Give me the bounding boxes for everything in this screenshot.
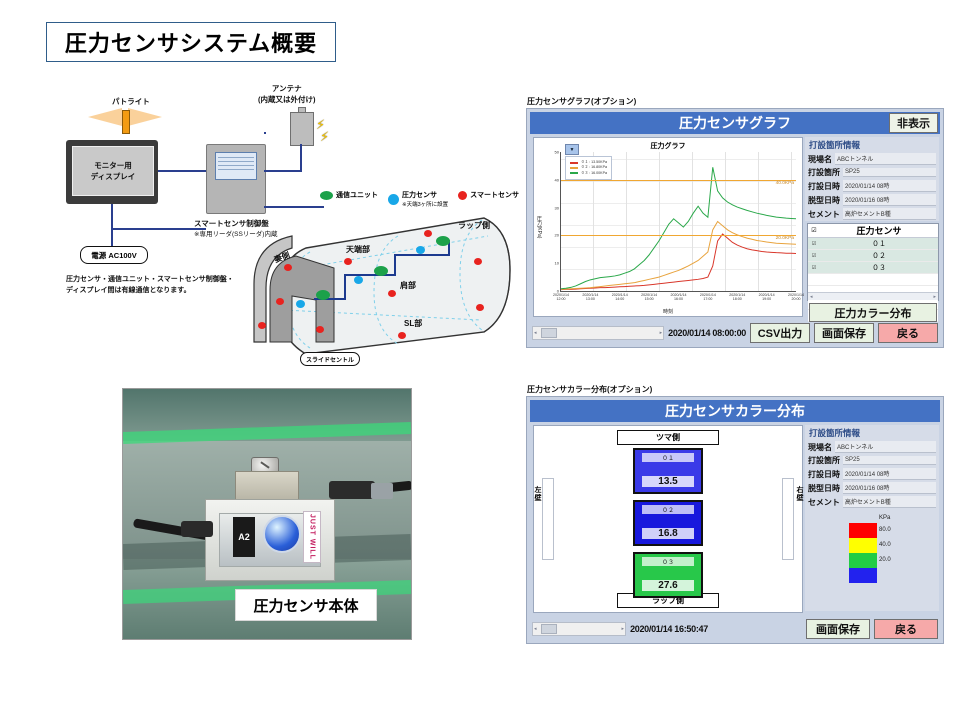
x-axis-tick-line: 13:00 bbox=[582, 297, 598, 301]
info-row: 脱型日時2020/01/16 08時 bbox=[808, 482, 936, 494]
red-dot-icon bbox=[458, 191, 467, 200]
right-wall-rail bbox=[782, 478, 794, 560]
sensor-box-id: ０２ bbox=[642, 505, 694, 514]
info-row: 脱型日時2020/01/16 08時 bbox=[808, 194, 936, 206]
info-key: 打設箇所 bbox=[808, 455, 840, 466]
graph-statusbar: ◂▸ 2020/01/14 08:00:00 CSV出力 画面保存 戻る bbox=[530, 322, 940, 344]
graph-timestamp: 2020/01/14 08:00:00 bbox=[668, 328, 746, 338]
color-scale-swatch bbox=[849, 568, 877, 583]
legend-series-label: ０３ : 16.00KPa bbox=[581, 171, 607, 176]
info-key: 打設日時 bbox=[808, 181, 840, 192]
smart-sensor-7 bbox=[474, 258, 482, 265]
sensor-list-header-checkbox[interactable]: ☑ bbox=[808, 227, 820, 234]
label-shoulder: 肩部 bbox=[400, 280, 416, 291]
sensor-legend: 通信ユニット 圧力センサ ※天端3ヶ所に設置 スマートセンサ bbox=[320, 190, 519, 208]
color-scale-label: 40.0 bbox=[879, 538, 891, 553]
graph-window-title: 圧力センサグラフ bbox=[679, 113, 791, 133]
cable-seg-2 bbox=[344, 274, 346, 300]
y-axis-tick: 50 bbox=[555, 150, 559, 155]
chart-series-line bbox=[561, 234, 796, 290]
smart-sensor-5 bbox=[388, 290, 396, 297]
csv-export-button[interactable]: CSV出力 bbox=[750, 323, 810, 343]
color-save-button[interactable]: 画面保存 bbox=[806, 619, 870, 639]
smart-sensor-8 bbox=[476, 304, 484, 311]
legend-item-smart-sensor: スマートセンサ bbox=[458, 190, 519, 200]
color-time-scrollbar[interactable]: ◂▸ bbox=[532, 622, 626, 636]
reference-line-label: 20.0KPa bbox=[776, 236, 794, 241]
wire-node bbox=[264, 132, 266, 134]
color-distribution-button[interactable]: 圧力カラー分布 bbox=[809, 303, 937, 322]
x-axis-tick: 2020/1/1414:00 bbox=[612, 293, 628, 302]
color-window-caption: 圧力センサカラー分布(オプション) bbox=[527, 384, 652, 395]
legend-color-swatch bbox=[570, 162, 578, 164]
x-axis-tick-line: 20:00 bbox=[788, 297, 804, 301]
color-window-titlebar: 圧力センサカラー分布 bbox=[530, 400, 940, 422]
graph-info-rows: 現場名ABCトンネル打設箇所SP25打設日時2020/01/14 08時脱型日時… bbox=[805, 153, 939, 220]
photo-caption: 圧力センサ本体 bbox=[235, 589, 377, 621]
chart-xlabel: 時刻 bbox=[534, 308, 802, 315]
y-axis-tick: 40 bbox=[555, 177, 559, 182]
info-row: 現場名ABCトンネル bbox=[808, 153, 936, 165]
x-axis-tick-line: 14:00 bbox=[612, 297, 628, 301]
legend-color-swatch bbox=[570, 172, 578, 174]
pressure-sensor-1 bbox=[296, 300, 305, 308]
info-row: セメント高炉セメントB種 bbox=[808, 496, 936, 508]
pressure-color-distribution-window: 圧力センサカラー分布 ツマ側 ラップ側 左壁 右壁 ０１13.5０２16.8０３… bbox=[526, 396, 944, 644]
info-value: ABCトンネル bbox=[835, 153, 936, 165]
sensor-list-item[interactable]: ☑０１ bbox=[808, 238, 938, 250]
right-wall-label: 右壁 bbox=[794, 486, 804, 502]
info-value: 高炉セメントB種 bbox=[843, 208, 936, 220]
color-scale-label: 80.0 bbox=[879, 523, 891, 538]
wire-antenna-to-control bbox=[264, 170, 302, 172]
label-sl: SL部 bbox=[404, 318, 422, 329]
sensor-list[interactable]: ☑ 圧力センサ ☑０１☑０２☑０３ ◂▸ bbox=[807, 223, 939, 301]
cable-seg-5 bbox=[394, 254, 448, 256]
smart-sensor-2 bbox=[344, 258, 352, 265]
legend-item-pressure-sensor: 圧力センサ ※天端3ヶ所に設置 bbox=[388, 190, 448, 208]
color-scale-label: 20.0 bbox=[879, 553, 891, 568]
color-scale-legend: 80.040.020.0 bbox=[849, 523, 891, 583]
sensor-color-box[interactable]: ０２16.8 bbox=[633, 500, 703, 546]
graph-time-scrollbar[interactable]: ◂▸ bbox=[532, 326, 664, 340]
sensor-box-value: 13.5 bbox=[642, 476, 694, 487]
color-distribution-canvas: ツマ側 ラップ側 左壁 右壁 ０１13.5０２16.8０３27.6 bbox=[533, 425, 803, 613]
x-axis-tick: 2020/1/1418:00 bbox=[729, 293, 745, 302]
smart-sensor-10 bbox=[258, 322, 266, 329]
page-title: 圧力センサシステム概要 bbox=[46, 22, 336, 62]
system-diagram: パトライト モニター用 ディスプレイ スマートセンサ制御盤 ※専用リーダ(SSリ… bbox=[58, 82, 518, 372]
sensor-label: ０１ bbox=[820, 239, 938, 249]
antenna-label-line1: アンテナ bbox=[258, 84, 316, 95]
info-row: 打設箇所SP25 bbox=[808, 455, 936, 466]
chart-panel: 圧力グラフ 圧力(KPa) 時刻 ▼ ０１ : 13.50KPa０２ : 16.… bbox=[533, 137, 803, 317]
x-axis-tick: 2020/1/1417:00 bbox=[700, 293, 716, 302]
graph-back-button[interactable]: 戻る bbox=[878, 323, 938, 343]
label-lap-side: ラップ側 bbox=[458, 220, 490, 231]
wire-monitor-to-power bbox=[111, 204, 113, 246]
pressure-graph-window: 圧力センサグラフ 非表示 圧力グラフ 圧力(KPa) 時刻 ▼ ０１ : 13.… bbox=[526, 108, 944, 348]
monitor-label-line2: ディスプレイ bbox=[91, 171, 135, 182]
wire-monitor-to-control bbox=[158, 170, 206, 172]
sensor-box-value: 27.6 bbox=[642, 580, 694, 591]
green-dot-icon bbox=[320, 191, 333, 200]
info-key: 現場名 bbox=[808, 442, 832, 453]
graph-window-caption: 圧力センサグラフ(オプション) bbox=[527, 96, 636, 107]
info-value: 2020/01/14 08時 bbox=[843, 180, 936, 192]
diagram-note-line2: ディスプレイ間は有線通信となります。 bbox=[66, 285, 234, 296]
info-row: 打設箇所SP25 bbox=[808, 167, 936, 178]
photo-connector-left bbox=[181, 521, 213, 537]
color-back-button[interactable]: 戻る bbox=[874, 619, 938, 639]
diagram-note-line1: 圧力センサ・通信ユニット・スマートセンサ制御盤・ bbox=[66, 274, 234, 285]
sensor-list-scrollbar[interactable]: ◂▸ bbox=[808, 292, 938, 300]
chart-ylabel: 圧力(KPa) bbox=[536, 216, 543, 239]
sensor-box-value: 16.8 bbox=[642, 528, 694, 539]
smart-sensor-1 bbox=[276, 298, 284, 305]
sensor-list-item[interactable]: ☑０３ bbox=[808, 262, 938, 274]
info-row: 現場名ABCトンネル bbox=[808, 441, 936, 453]
info-key: 脱型日時 bbox=[808, 195, 840, 206]
patlite-label: パトライト bbox=[112, 96, 150, 107]
antenna-label: アンテナ (内蔵又は外付け) bbox=[258, 84, 316, 105]
radio-wave-icon-2: ⚡ bbox=[320, 130, 329, 143]
color-info-panel: 打設箇所情報 現場名ABCトンネル打設箇所SP25打設日時2020/01/14 … bbox=[805, 425, 939, 611]
info-row: 打設日時2020/01/14 08時 bbox=[808, 180, 936, 192]
color-timestamp: 2020/01/14 16:50:47 bbox=[630, 624, 708, 634]
x-axis-tick: 2020/1/1415:00 bbox=[641, 293, 657, 302]
left-wall-rail bbox=[542, 478, 554, 560]
diagram-note: 圧力センサ・通信ユニット・スマートセンサ制御盤・ ディスプレイ間は有線通信となり… bbox=[66, 274, 234, 296]
x-axis-tick: 2020/1/1413:00 bbox=[582, 293, 598, 302]
color-scrollbar-thumb[interactable] bbox=[541, 624, 557, 634]
sensor-checkbox[interactable]: ☑ bbox=[808, 253, 820, 259]
color-scale-swatch bbox=[849, 538, 877, 553]
color-scale-labels: 80.040.020.0 bbox=[879, 523, 891, 583]
x-axis-tick: 2020/1/1416:00 bbox=[671, 293, 687, 302]
chart-legend-item: ０３ : 16.00KPa bbox=[570, 171, 607, 176]
label-crown: 天端部 bbox=[346, 244, 370, 255]
info-value: 2020/01/16 08時 bbox=[843, 194, 936, 206]
blue-dot-icon bbox=[388, 194, 399, 205]
reference-line bbox=[561, 235, 796, 236]
y-axis-tick: 20 bbox=[555, 233, 559, 238]
hide-button[interactable]: 非表示 bbox=[889, 113, 938, 133]
smart-sensor-9 bbox=[284, 264, 292, 271]
tunnel-illustration: 通信ユニット 圧力センサ ※天端3ヶ所に設置 スマートセンサ bbox=[248, 192, 516, 367]
info-key: 打設日時 bbox=[808, 469, 840, 480]
color-info-rows: 現場名ABCトンネル打設箇所SP25打設日時2020/01/14 08時脱型日時… bbox=[805, 441, 939, 508]
sensor-checkbox[interactable]: ☑ bbox=[808, 265, 820, 271]
y-axis-tick: 10 bbox=[555, 261, 559, 266]
wire-power-bus bbox=[111, 228, 206, 230]
chart-series-line bbox=[561, 222, 796, 290]
color-window-title: 圧力センサカラー分布 bbox=[665, 401, 805, 421]
smart-sensor-6 bbox=[398, 332, 406, 339]
info-key: セメント bbox=[808, 209, 840, 220]
sensor-list-header-label: 圧力センサ bbox=[820, 224, 938, 237]
y-axis-tick: 30 bbox=[555, 205, 559, 210]
info-row: 打設日時2020/01/14 08時 bbox=[808, 468, 936, 480]
x-axis-tick-line: 17:00 bbox=[700, 297, 716, 301]
comm-unit-3 bbox=[436, 236, 450, 246]
patlite-icon bbox=[122, 110, 130, 134]
color-info-heading: 打設箇所情報 bbox=[809, 427, 939, 439]
comm-unit-1 bbox=[316, 290, 330, 300]
pressure-sensor-3 bbox=[416, 246, 425, 254]
legend-label-pressure-sensor: 圧力センサ ※天端3ヶ所に設置 bbox=[402, 190, 448, 208]
color-statusbar: ◂▸ 2020/01/14 16:50:47 画面保存 戻る bbox=[530, 618, 940, 640]
legend-item-comm-unit: 通信ユニット bbox=[320, 190, 378, 200]
info-key: 現場名 bbox=[808, 154, 832, 165]
antenna-label-line2: (内蔵又は外付け) bbox=[258, 95, 316, 106]
info-key: 打設箇所 bbox=[808, 167, 840, 178]
color-scale-swatch bbox=[849, 553, 877, 568]
monitor-display: モニター用 ディスプレイ bbox=[72, 146, 154, 196]
x-axis-tick-line: 16:00 bbox=[671, 297, 687, 301]
smart-sensor-4 bbox=[316, 326, 324, 333]
photo-device-label: A2 bbox=[233, 517, 255, 557]
photo-connector-right bbox=[329, 481, 375, 499]
photo-sensor-lens bbox=[263, 515, 301, 553]
x-axis-tick: 2020/1/1420:00 bbox=[788, 293, 804, 302]
info-value: SP25 bbox=[843, 168, 936, 177]
patlite-light-beam-right bbox=[128, 108, 162, 126]
photo-connector-right-2 bbox=[371, 483, 393, 499]
patlite-light-beam-left bbox=[88, 108, 122, 126]
cable-seg-4 bbox=[394, 254, 396, 276]
antenna-icon bbox=[290, 112, 314, 146]
sensor-list-header: ☑ 圧力センサ bbox=[808, 224, 938, 238]
scrollbar-thumb[interactable] bbox=[541, 328, 557, 338]
color-scale-swatch bbox=[849, 523, 877, 538]
x-axis-tick: 2020/1/1419:00 bbox=[759, 293, 775, 302]
smart-sensor-3 bbox=[424, 230, 432, 237]
comm-unit-2 bbox=[374, 266, 388, 276]
color-scale-bars bbox=[849, 523, 877, 583]
info-value: 高炉セメントB種 bbox=[843, 496, 936, 508]
info-value: ABCトンネル bbox=[835, 441, 936, 453]
x-axis-tick-line: 15:00 bbox=[641, 297, 657, 301]
photo-brand-sticker: JUST WILL bbox=[303, 511, 321, 563]
x-axis-tick-line: 18:00 bbox=[729, 297, 745, 301]
color-scale-unit: KPa bbox=[879, 515, 890, 521]
graph-info-heading: 打設箇所情報 bbox=[809, 139, 939, 151]
graph-info-panel: 打設箇所情報 現場名ABCトンネル打設箇所SP25打設日時2020/01/14 … bbox=[805, 137, 939, 221]
graph-save-button[interactable]: 画面保存 bbox=[814, 323, 874, 343]
reference-line-label: 40.0KPa bbox=[776, 181, 794, 186]
legend-sub-pressure-sensor: ※天端3ヶ所に設置 bbox=[402, 200, 448, 208]
sensor-photo: A2 JUST WILL 圧力センサ本体 bbox=[122, 388, 412, 640]
chart-legend[interactable]: ０１ : 13.50KPa０２ : 16.80KPa０３ : 16.00KPa bbox=[565, 156, 612, 180]
sensor-box-id: ０３ bbox=[642, 557, 694, 566]
tsuma-side-label: ツマ側 bbox=[617, 430, 719, 445]
monitor-label-line1: モニター用 bbox=[94, 160, 132, 171]
sensor-color-box[interactable]: ０１13.5 bbox=[633, 448, 703, 494]
left-wall-label: 左壁 bbox=[532, 486, 542, 502]
power-source-label: 電源 AC100V bbox=[80, 246, 148, 264]
pressure-sensor-2 bbox=[354, 276, 363, 284]
color-scale-label bbox=[879, 568, 891, 583]
control-panel-screen bbox=[215, 152, 257, 180]
info-value: 2020/01/16 08時 bbox=[843, 482, 936, 494]
x-axis-tick: 2020/1/1412:00 bbox=[553, 293, 569, 302]
sensor-list-item-empty bbox=[808, 274, 938, 286]
info-value: SP25 bbox=[843, 456, 936, 465]
sensor-list-item[interactable]: ☑０２ bbox=[808, 250, 938, 262]
tunnel-shape bbox=[248, 192, 516, 367]
label-slide-centle: スライドセントル bbox=[300, 352, 360, 366]
sensor-label: ０３ bbox=[820, 263, 938, 273]
legend-label-smart-sensor: スマートセンサ bbox=[470, 190, 519, 200]
graph-window-titlebar: 圧力センサグラフ 非表示 bbox=[530, 112, 940, 134]
legend-color-swatch bbox=[570, 167, 578, 169]
sensor-box-id: ０１ bbox=[642, 453, 694, 462]
info-key: 脱型日時 bbox=[808, 483, 840, 494]
info-value: 2020/01/14 08時 bbox=[843, 468, 936, 480]
sensor-label: ０２ bbox=[820, 251, 938, 261]
sensor-color-box[interactable]: ０３27.6 bbox=[633, 552, 703, 598]
wire-antenna-down bbox=[300, 144, 302, 170]
info-key: セメント bbox=[808, 497, 840, 508]
legend-text-pressure-sensor: 圧力センサ bbox=[402, 192, 437, 199]
x-axis-tick-line: 12:00 bbox=[553, 297, 569, 301]
sensor-checkbox[interactable]: ☑ bbox=[808, 241, 820, 247]
chart-plot-area[interactable]: ▼ ０１ : 13.50KPa０２ : 16.80KPa０３ : 16.00KP… bbox=[560, 152, 796, 292]
cable-seg-3 bbox=[344, 274, 394, 276]
info-row: セメント高炉セメントB種 bbox=[808, 208, 936, 220]
x-axis-tick-line: 19:00 bbox=[759, 297, 775, 301]
legend-label-comm-unit: 通信ユニット bbox=[336, 190, 378, 200]
